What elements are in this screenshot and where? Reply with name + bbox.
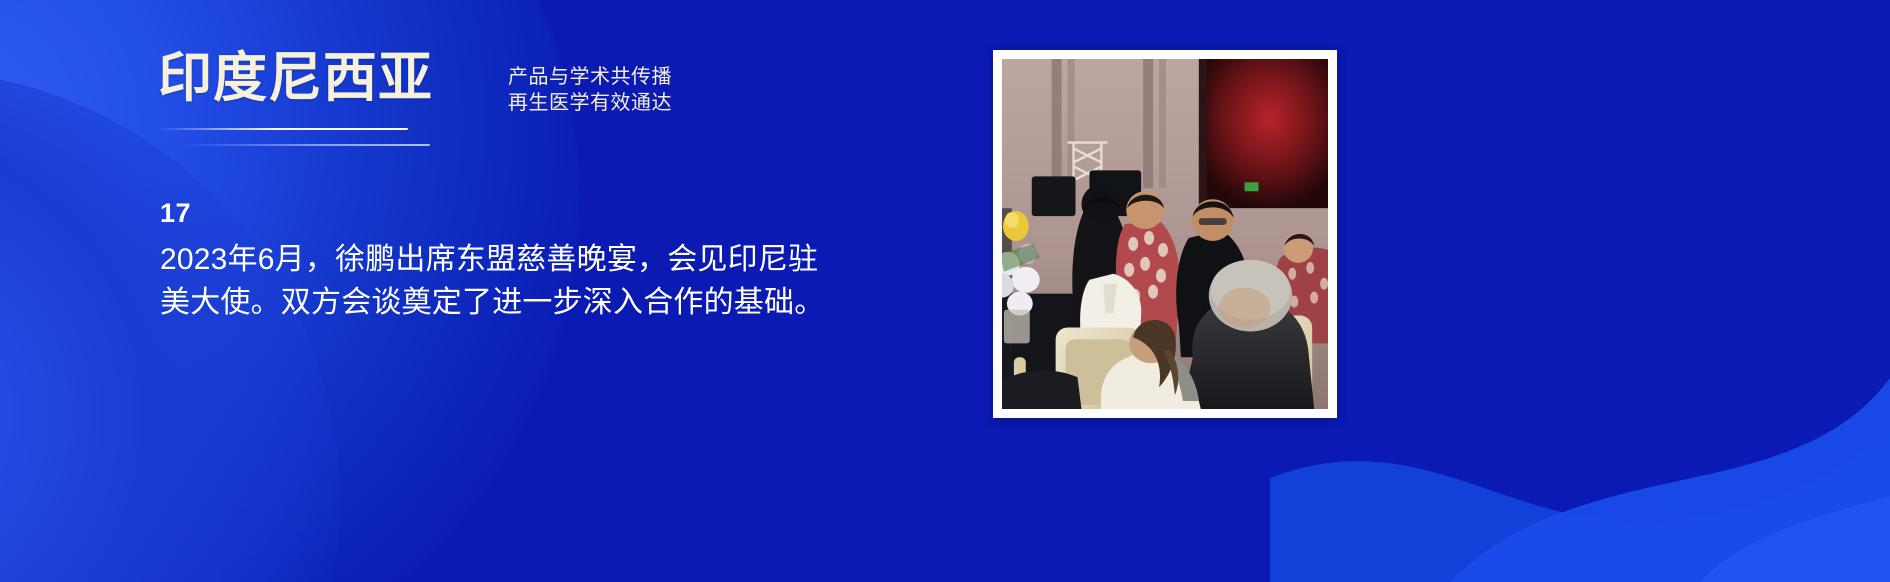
- title-underline-primary: [158, 128, 409, 130]
- body-text: 2023年6月，徐鹏出席东盟慈善晚宴，会见印尼驻 美大使。双方会谈奠定了进一步深…: [160, 238, 920, 324]
- presentation-slide: 印度尼西亚 产品与学术共传播 再生医学有效通达 17 2023年6月，徐鹏出席东…: [0, 0, 1890, 582]
- title-underline-secondary: [180, 144, 431, 146]
- subtitle-line-2: 再生医学有效通达: [508, 90, 672, 116]
- content-block: 17 2023年6月，徐鹏出席东盟慈善晚宴，会见印尼驻 美大使。双方会谈奠定了进…: [160, 196, 920, 324]
- photo-frame: [993, 50, 1337, 418]
- title-underline-decoration: [158, 122, 458, 156]
- banquet-photo: [1002, 59, 1328, 409]
- body-text-line-2: 美大使。双方会谈奠定了进一步深入合作的基础。: [160, 281, 920, 324]
- subtitle-line-1: 产品与学术共传播: [508, 64, 672, 90]
- subtitle-block: 产品与学术共传播 再生医学有效通达: [508, 64, 672, 116]
- item-number: 17: [160, 196, 920, 230]
- body-text-line-1: 2023年6月，徐鹏出席东盟慈善晚宴，会见印尼驻: [160, 238, 920, 281]
